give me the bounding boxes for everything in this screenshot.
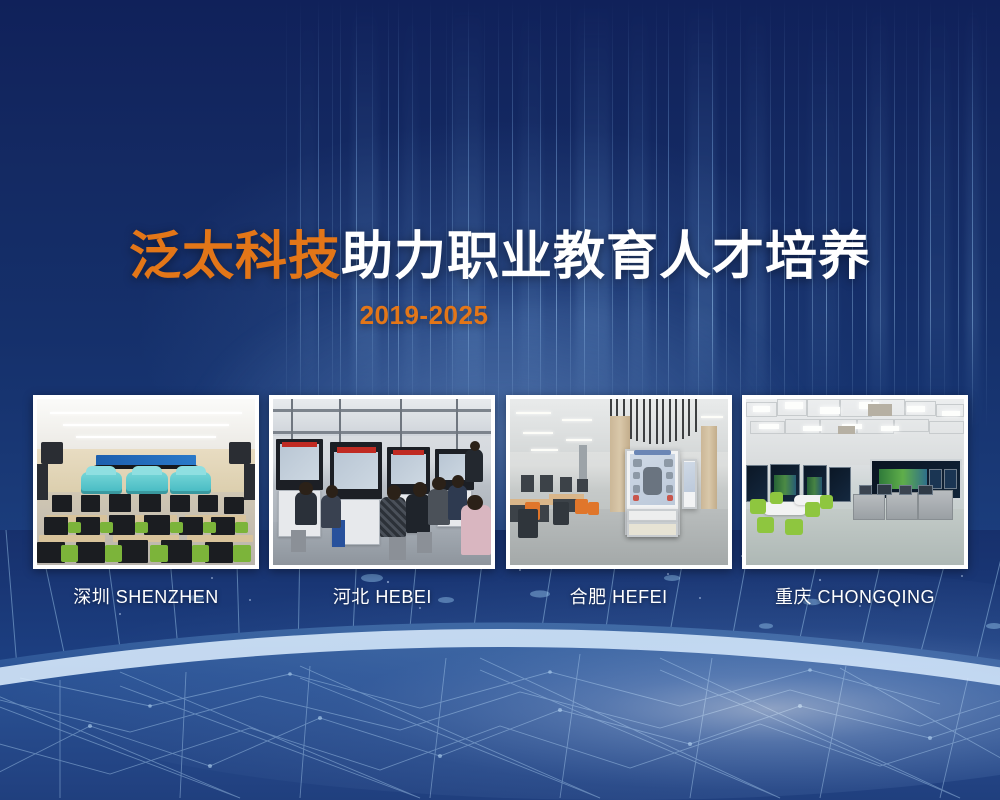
caption-hebei: 河北 HEBEI [269, 583, 495, 609]
year-range: 2019-2025 [0, 300, 1000, 331]
title-slogan: 助力职业教育人才培养 [341, 228, 871, 286]
caption-shenzhen: 深圳 SHENZHEN [33, 583, 259, 609]
gallery-photo-chongqing[interactable] [742, 395, 968, 569]
gallery-photo-shenzhen[interactable] [33, 395, 259, 569]
page-title: 泛太科技助力职业教育人才培养 [0, 228, 1000, 286]
gallery-photo-hefei[interactable] [506, 395, 732, 569]
globe-svg [0, 530, 1000, 800]
gallery-photo-hebei[interactable] [269, 395, 495, 569]
title-block: 泛太科技助力职业教育人才培养 2019-2025 [0, 228, 1000, 331]
photo-image-shenzhen [37, 399, 255, 565]
globe-network-decoration [0, 530, 1000, 800]
caption-chongqing: 重庆 CHONGQING [742, 583, 968, 609]
photo-image-hefei [510, 399, 728, 565]
brand-name: 泛太科技 [129, 228, 341, 286]
light-streaks-decoration [0, 0, 1000, 430]
poster-canvas: 泛太科技助力职业教育人才培养 2019-2025 [0, 0, 1000, 800]
caption-hefei: 合肥 HEFEI [506, 583, 732, 609]
photo-image-chongqing [746, 399, 964, 565]
photo-gallery [33, 395, 968, 569]
gallery-captions: 深圳 SHENZHEN 河北 HEBEI 合肥 HEFEI 重庆 CHONGQI… [33, 583, 968, 609]
photo-image-hebei [273, 399, 491, 565]
